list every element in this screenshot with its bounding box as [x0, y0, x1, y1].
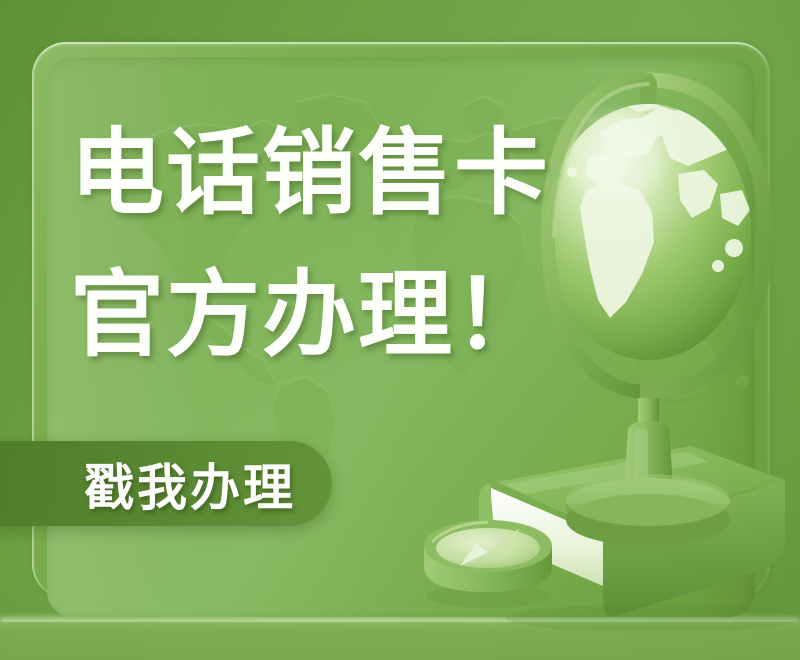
globe-icon [528, 62, 778, 562]
headline: 电话销售卡 官方办理！ [70, 124, 550, 366]
cta-button[interactable]: 戳我办理 [0, 441, 332, 526]
banner-stage: 电话销售卡 官方办理！ 戳我办理 [0, 0, 800, 660]
headline-line-2: 官方办理！ [70, 266, 550, 366]
cta-button-label: 戳我办理 [84, 448, 332, 520]
compass-icon [410, 500, 570, 610]
headline-line-1: 电话销售卡 [70, 124, 550, 224]
